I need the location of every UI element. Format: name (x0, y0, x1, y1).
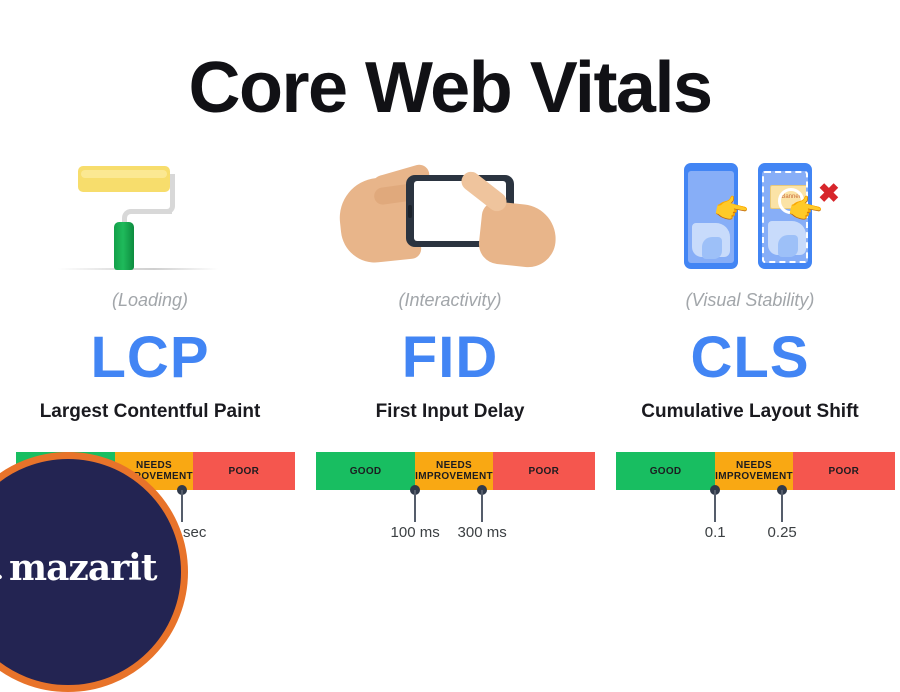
metric-full-name: First Input Delay (376, 401, 525, 423)
logo-lockup: it mazarit (0, 545, 181, 591)
tick-line (781, 490, 783, 522)
logo-wordmark: mazarit (9, 547, 156, 589)
right-hand-shape (477, 200, 559, 270)
threshold-label: 100 ms (391, 524, 440, 541)
roller-grip-shape (114, 222, 134, 270)
magnifier-icon: it (0, 551, 3, 585)
metric-full-name: Largest Contentful Paint (40, 401, 261, 423)
metric-acronym: FID (402, 329, 498, 387)
metric-paren-label: (Loading) (112, 290, 188, 311)
threshold-bar-cls: GOOD NEEDS IMPROVEMENT POOR 0.1 0.25 (600, 452, 900, 550)
metric-column-fid: (Interactivity) FID First Input Delay (300, 152, 600, 423)
metric-column-lcp: (Loading) LCP Largest Contentful Paint (0, 152, 300, 423)
layout-shift-icon: Banner ✖ 👉 👉 (630, 152, 870, 272)
roller-arm-shape (166, 174, 175, 214)
threshold-label: 300 ms (458, 524, 507, 541)
content-image-accent (702, 237, 722, 259)
phone-side-button (408, 205, 412, 218)
segment-poor: POOR (493, 452, 595, 490)
threshold-label: 0.1 (705, 524, 726, 541)
tick-line (181, 490, 183, 522)
segment-good: GOOD (616, 452, 715, 490)
page-title: Core Web Vitals (0, 52, 900, 124)
tick-line (714, 490, 716, 522)
metric-paren-label: (Interactivity) (398, 290, 501, 311)
segment-good: GOOD (316, 452, 415, 490)
tick-line (414, 490, 416, 522)
threshold-ticks: 0.1 0.25 (616, 490, 884, 550)
metric-acronym: LCP (91, 329, 210, 387)
threshold-bar-fid: GOOD NEEDS IMPROVEMENT POOR 100 ms 300 m… (300, 452, 600, 550)
threshold-ticks: 100 ms 300 ms (316, 490, 584, 550)
tick-line (481, 490, 483, 522)
roller-head-shape (78, 166, 170, 192)
threshold-label: 0.25 (768, 524, 797, 541)
rating-bar: GOOD NEEDS IMPROVEMENT POOR (316, 452, 584, 490)
content-image-accent (778, 235, 798, 257)
rating-bar: GOOD NEEDS IMPROVEMENT POOR (616, 452, 884, 490)
metric-columns: (Loading) LCP Largest Contentful Paint (… (0, 152, 900, 423)
segment-poor: POOR (793, 452, 895, 490)
metric-column-cls: Banner ✖ 👉 👉 (Visual Stability) CLS Cumu… (600, 152, 900, 423)
floor-shadow (58, 268, 218, 270)
metric-acronym: CLS (691, 329, 810, 387)
metric-full-name: Cumulative Layout Shift (641, 401, 858, 423)
metric-paren-label: (Visual Stability) (686, 290, 815, 311)
phones-stage: Banner ✖ 👉 👉 (652, 160, 852, 272)
segment-poor: POOR (193, 452, 295, 490)
paint-roller-icon (30, 152, 270, 272)
hands-phone-icon (330, 152, 570, 272)
magnifier-handle (0, 568, 3, 580)
